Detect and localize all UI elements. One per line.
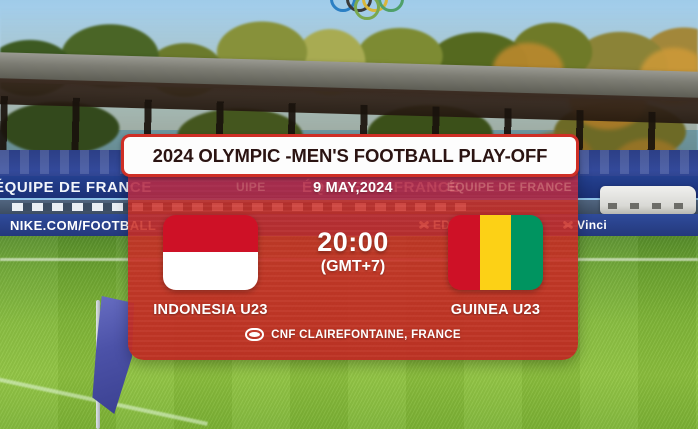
away-team-block: [413, 215, 578, 290]
match-row: 20:00 (GMT+7): [128, 202, 578, 302]
match-date: 9 MAY,2024: [128, 180, 578, 196]
stadium-icon: [245, 328, 264, 341]
title-banner: 2024 OLYMPIC -MEN'S FOOTBALL PLAY-OFF: [121, 134, 579, 177]
home-team-block: [128, 215, 293, 290]
venue-label: CNF CLAIREFONTAINE, FRANCE: [271, 329, 461, 341]
kickoff-block: 20:00 (GMT+7): [293, 228, 413, 275]
indonesia-flag: [163, 215, 258, 290]
flag-stripe-green: [511, 215, 543, 290]
venue-block: CNF CLAIREFONTAINE, FRANCE: [128, 328, 578, 341]
match-poster: ÉQUIPE DE FRANCE ÉQUIPE DE FRANCE NIKE.C…: [0, 0, 698, 429]
home-team-name: INDONESIA U23: [128, 302, 293, 318]
olympic-ring-green: [378, 0, 404, 12]
page-title: 2024 OLYMPIC -MEN'S FOOTBALL PLAY-OFF: [153, 145, 548, 167]
guinea-flag: [448, 215, 543, 290]
flag-band-white: [163, 252, 258, 290]
ad-vinci-label: Vinci: [577, 218, 607, 232]
match-info-card: ÉQUIPE DE FRANCE UIPE 2024 OLYMPIC -MEN'…: [128, 150, 578, 360]
service-van: [600, 186, 696, 214]
flag-stripe-red: [448, 215, 480, 290]
olympic-rings-icon: [330, 0, 410, 12]
flag-band-red: [163, 215, 258, 253]
kickoff-timezone: (GMT+7): [321, 258, 385, 276]
kickoff-time: 20:00: [317, 228, 389, 256]
away-team-name: GUINEA U23: [413, 302, 578, 318]
flag-stripe-yellow: [480, 215, 512, 290]
